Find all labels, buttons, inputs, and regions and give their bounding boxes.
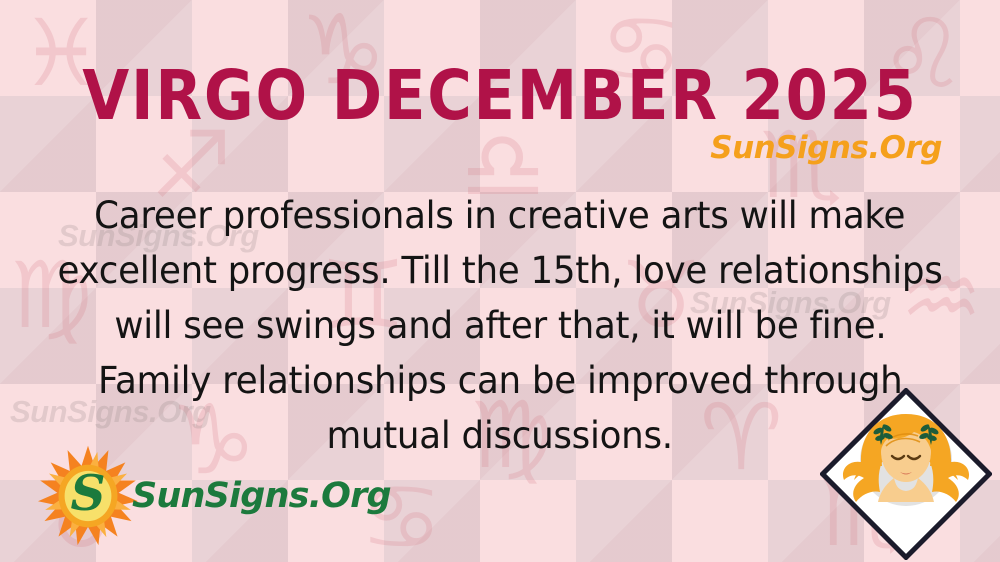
horoscope-text-line: will see swings and after that, it will … xyxy=(114,298,886,353)
horoscope-poster: ♓♑♋♌♐♎♏♍♊♉♒♑♍♈♉♋♏ SunSigns.Org SunSigns.… xyxy=(0,0,1000,562)
sunsigns-logo-text: SunSigns.Org xyxy=(132,476,391,516)
svg-text:S: S xyxy=(70,465,105,522)
horoscope-text-line: Family relationships can be improved thr… xyxy=(98,353,902,408)
brand-wordmark-orange: SunSigns.Org xyxy=(710,130,942,166)
page-title: VIRGO DECEMBER 2025 xyxy=(60,62,940,131)
sun-burst-icon: S xyxy=(36,444,140,548)
virgo-maiden-icon xyxy=(820,388,992,560)
horoscope-text-line: Career professionals in creative arts wi… xyxy=(94,188,905,243)
sunsigns-logo[interactable]: S SunSigns.Org xyxy=(36,444,391,548)
horoscope-text-line: excellent progress. Till the 15th, love … xyxy=(58,243,943,298)
